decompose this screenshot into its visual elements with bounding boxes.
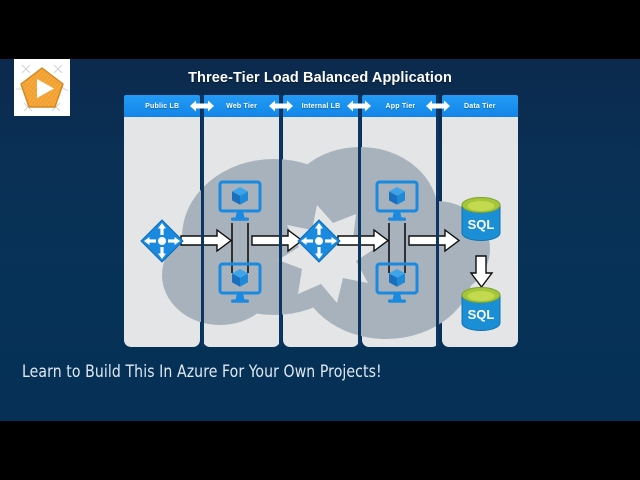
separator-web-tier-internal-lb	[279, 95, 282, 347]
tier-column-data-tier[interactable]: Data Tier	[442, 95, 518, 347]
tier-header-data-tier: Data Tier	[442, 95, 518, 117]
slide-caption: Learn to Build This In Azure For Your Ow…	[22, 362, 382, 382]
tier-body-public-lb	[124, 117, 200, 347]
tier-body-data-tier	[442, 117, 518, 347]
presentation-slide: Three-Tier Load Balanced Application Pub…	[0, 59, 640, 421]
video-frame: Three-Tier Load Balanced Application Pub…	[0, 0, 640, 480]
double-arrow-icon	[267, 100, 295, 113]
tier-column-web-tier[interactable]: Web Tier	[203, 95, 279, 347]
tier-columns: Public LB Web Tier Internal LB App Tier	[124, 95, 518, 347]
channel-logo[interactable]	[14, 59, 70, 116]
tier-column-app-tier[interactable]: App Tier	[362, 95, 438, 347]
double-arrow-icon	[345, 100, 373, 113]
letterbox-bottom	[0, 421, 640, 480]
page-title: Three-Tier Load Balanced Application	[120, 70, 520, 86]
letterbox-top	[0, 0, 640, 59]
tier-body-web-tier	[203, 117, 279, 347]
separator-internal-lb-app-tier	[358, 95, 361, 347]
double-arrow-icon	[188, 100, 216, 113]
tier-body-internal-lb	[283, 117, 359, 347]
separator-app-tier-data-tier	[436, 95, 439, 347]
double-arrow-icon	[424, 100, 452, 113]
pentagon-play-icon	[14, 59, 70, 116]
tier-column-internal-lb[interactable]: Internal LB	[283, 95, 359, 347]
tier-column-public-lb[interactable]: Public LB	[124, 95, 200, 347]
tier-body-app-tier	[362, 117, 438, 347]
separator-public-lb-web-tier	[201, 95, 204, 347]
architecture-diagram: Public LB Web Tier Internal LB App Tier	[124, 95, 518, 347]
